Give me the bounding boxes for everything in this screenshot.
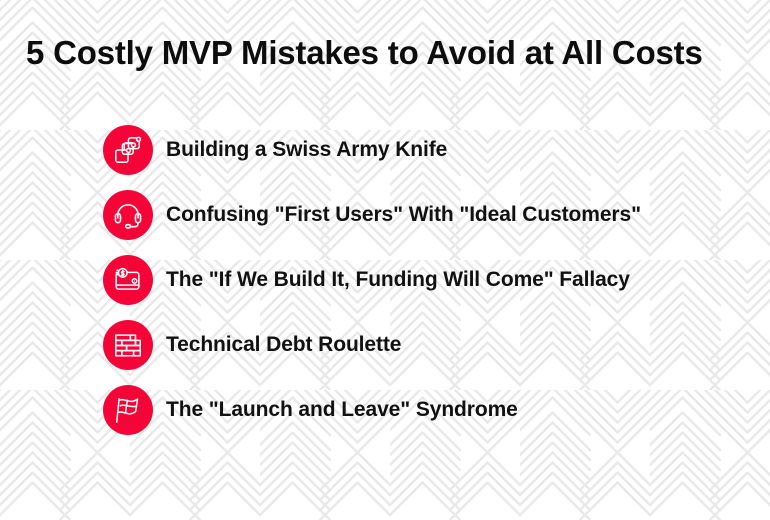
mistakes-list: Building a Swiss Army Knife Confusing "F… (103, 125, 763, 435)
page-title: 5 Costly MVP Mistakes to Avoid at All Co… (26, 33, 746, 73)
list-item: The "Launch and Leave" Syndrome (103, 385, 763, 435)
list-item: Building a Swiss Army Knife (103, 125, 763, 175)
brick-wall-icon (103, 320, 153, 370)
headset-icon (103, 190, 153, 240)
infographic-canvas: 5 Costly MVP Mistakes to Avoid at All Co… (0, 0, 770, 520)
list-item-label: Building a Swiss Army Knife (166, 138, 447, 162)
list-item-label: Confusing "First Users" With "Ideal Cust… (166, 203, 641, 227)
list-item-label: The "Launch and Leave" Syndrome (166, 398, 518, 422)
list-item: The "If We Build It, Funding Will Come" … (103, 255, 763, 305)
list-item: Confusing "First Users" With "Ideal Cust… (103, 190, 763, 240)
list-item-label: The "If We Build It, Funding Will Come" … (166, 268, 630, 292)
list-item: Technical Debt Roulette (103, 320, 763, 370)
flag-icon (103, 385, 153, 435)
wallet-dollar-icon (103, 255, 153, 305)
list-item-label: Technical Debt Roulette (166, 333, 401, 357)
layered-squares-nodes-icon (103, 125, 153, 175)
